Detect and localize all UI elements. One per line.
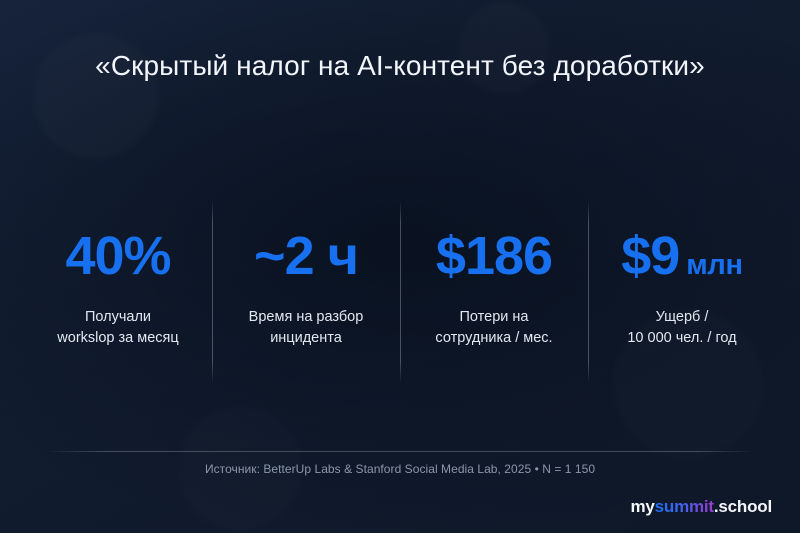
stat-card-1: 40% Получали workslop за месяц [24, 196, 212, 386]
stat-value-2: ~2 ч [254, 228, 358, 285]
stat-number-3: $186 [436, 228, 552, 285]
stat-label-1-line1: Получали [85, 309, 151, 325]
stat-value-1: 40% [65, 228, 170, 285]
source-note: Источник: BetterUp Labs & Stanford Socia… [0, 462, 800, 476]
stat-label-2-line2: инцидента [270, 330, 342, 346]
stat-value-4: $9 млн [621, 228, 743, 285]
stat-card-2: ~2 ч Время на разбор инцидента [212, 196, 400, 386]
stat-label-2-line1: Время на разбор [249, 309, 364, 325]
stat-number-4: $9 [621, 228, 679, 285]
brand-logo: mysummit.school [630, 497, 772, 517]
stat-label-3-line1: Потери на [460, 309, 529, 325]
page-title: «Скрытый налог на AI-контент без доработ… [0, 50, 800, 82]
logo-brand: summit [655, 497, 714, 516]
stat-unit-4: млн [686, 250, 743, 280]
stat-label-1-line2: workslop за месяц [57, 330, 178, 346]
stat-number-2: ~2 ч [254, 228, 358, 285]
stats-row: 40% Получали workslop за месяц ~2 ч Врем… [24, 196, 776, 386]
stat-label-3: Потери на сотрудника / мес. [435, 307, 552, 349]
stat-card-3: $186 Потери на сотрудника / мес. [400, 196, 588, 386]
stat-value-3: $186 [436, 228, 552, 285]
logo-prefix: my [630, 497, 654, 516]
stat-label-3-line2: сотрудника / мес. [435, 330, 552, 346]
stat-label-1: Получали workslop за месяц [57, 307, 178, 349]
stat-label-2: Время на разбор инцидента [249, 307, 364, 349]
stat-label-4: Ущерб / 10 000 чел. / год [627, 307, 736, 349]
footer-divider [50, 451, 750, 452]
stat-number-1: 40% [65, 228, 170, 285]
stat-label-4-line2: 10 000 чел. / год [627, 330, 736, 346]
stat-card-4: $9 млн Ущерб / 10 000 чел. / год [588, 196, 776, 386]
logo-suffix: .school [714, 497, 772, 516]
stat-label-4-line1: Ущерб / [656, 309, 709, 325]
slide-canvas: «Скрытый налог на AI-контент без доработ… [0, 0, 800, 533]
